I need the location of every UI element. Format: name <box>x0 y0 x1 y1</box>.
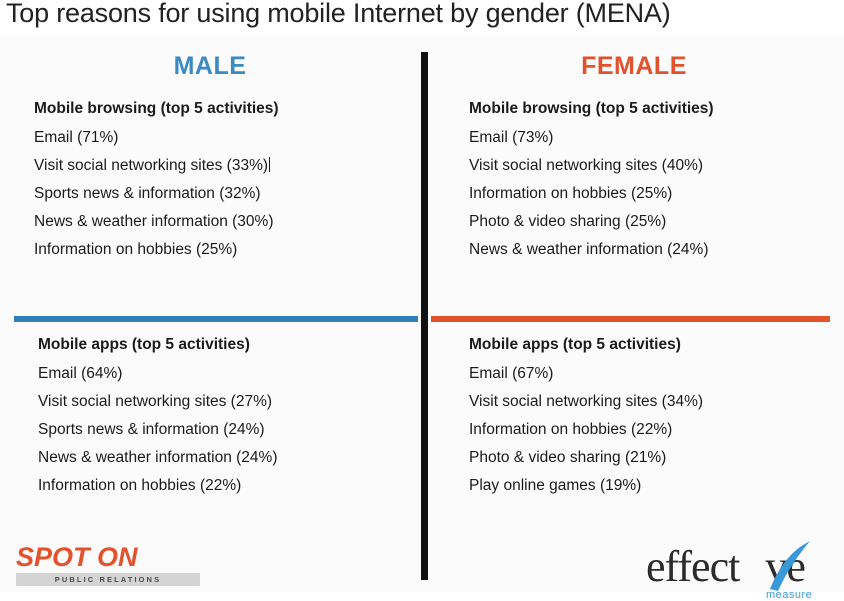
list-item: Email (71%) <box>34 129 434 147</box>
slide: Top reasons for using mobile Internet by… <box>0 0 844 592</box>
spot-on-wordmark: SPOT ON <box>16 544 206 571</box>
list-item: Information on hobbies (22%) <box>38 477 438 495</box>
list-item: News & weather information (24%) <box>38 449 438 467</box>
list-item: News & weather information (24%) <box>469 241 844 259</box>
list-item: Photo & video sharing (25%) <box>469 213 844 231</box>
list-item: Visit social networking sites (33%) <box>34 157 434 175</box>
spot-on-tagline-bar: PUBLIC RELATIONS <box>16 573 200 586</box>
list-item: Email (73%) <box>469 129 844 147</box>
male-browsing-block: Mobile browsing (top 5 activities) Email… <box>34 100 434 269</box>
list-item: Sports news & information (24%) <box>38 421 438 439</box>
list-item: Information on hobbies (25%) <box>469 185 844 203</box>
list-item: Information on hobbies (22%) <box>469 421 844 439</box>
list-item: News & weather information (30%) <box>34 213 434 231</box>
effective-measure-logo: effectve measure <box>646 541 836 601</box>
effective-word-head: effect <box>646 542 739 591</box>
female-apps-block: Mobile apps (top 5 activities) Email (67… <box>469 336 844 505</box>
slide-content: MALE Mobile browsing (top 5 activities) … <box>0 36 844 592</box>
list-item: Visit social networking sites (34%) <box>469 393 844 411</box>
list-item: Information on hobbies (25%) <box>34 241 434 259</box>
list-item: Email (64%) <box>38 365 438 383</box>
male-apps-heading: Mobile apps (top 5 activities) <box>38 336 438 354</box>
male-heading: MALE <box>0 52 420 81</box>
female-column: FEMALE Mobile browsing (top 5 activities… <box>424 36 844 592</box>
female-browsing-heading: Mobile browsing (top 5 activities) <box>469 100 844 118</box>
list-item: Email (67%) <box>469 365 844 383</box>
male-apps-block: Mobile apps (top 5 activities) Email (64… <box>38 336 438 505</box>
page-title: Top reasons for using mobile Internet by… <box>6 0 671 29</box>
female-browsing-block: Mobile browsing (top 5 activities) Email… <box>469 100 844 269</box>
list-item: Visit social networking sites (27%) <box>38 393 438 411</box>
list-item: Play online games (19%) <box>469 477 844 495</box>
effective-measure-subtitle: measure <box>766 589 812 601</box>
list-item: Photo & video sharing (21%) <box>469 449 844 467</box>
swoosh-icon <box>764 539 824 593</box>
title-bar: Top reasons for using mobile Internet by… <box>0 0 844 37</box>
list-item: Visit social networking sites (40%) <box>469 157 844 175</box>
list-item-text: Visit social networking sites (33%) <box>34 157 268 174</box>
male-browsing-heading: Mobile browsing (top 5 activities) <box>34 100 434 118</box>
list-item: Sports news & information (32%) <box>34 185 434 203</box>
female-heading: FEMALE <box>424 52 844 81</box>
text-caret <box>269 157 270 172</box>
spot-on-tagline: PUBLIC RELATIONS <box>16 573 200 586</box>
male-column: MALE Mobile browsing (top 5 activities) … <box>0 36 420 592</box>
spot-on-logo: SPOT ON PUBLIC RELATIONS <box>16 544 206 584</box>
female-apps-heading: Mobile apps (top 5 activities) <box>469 336 844 354</box>
